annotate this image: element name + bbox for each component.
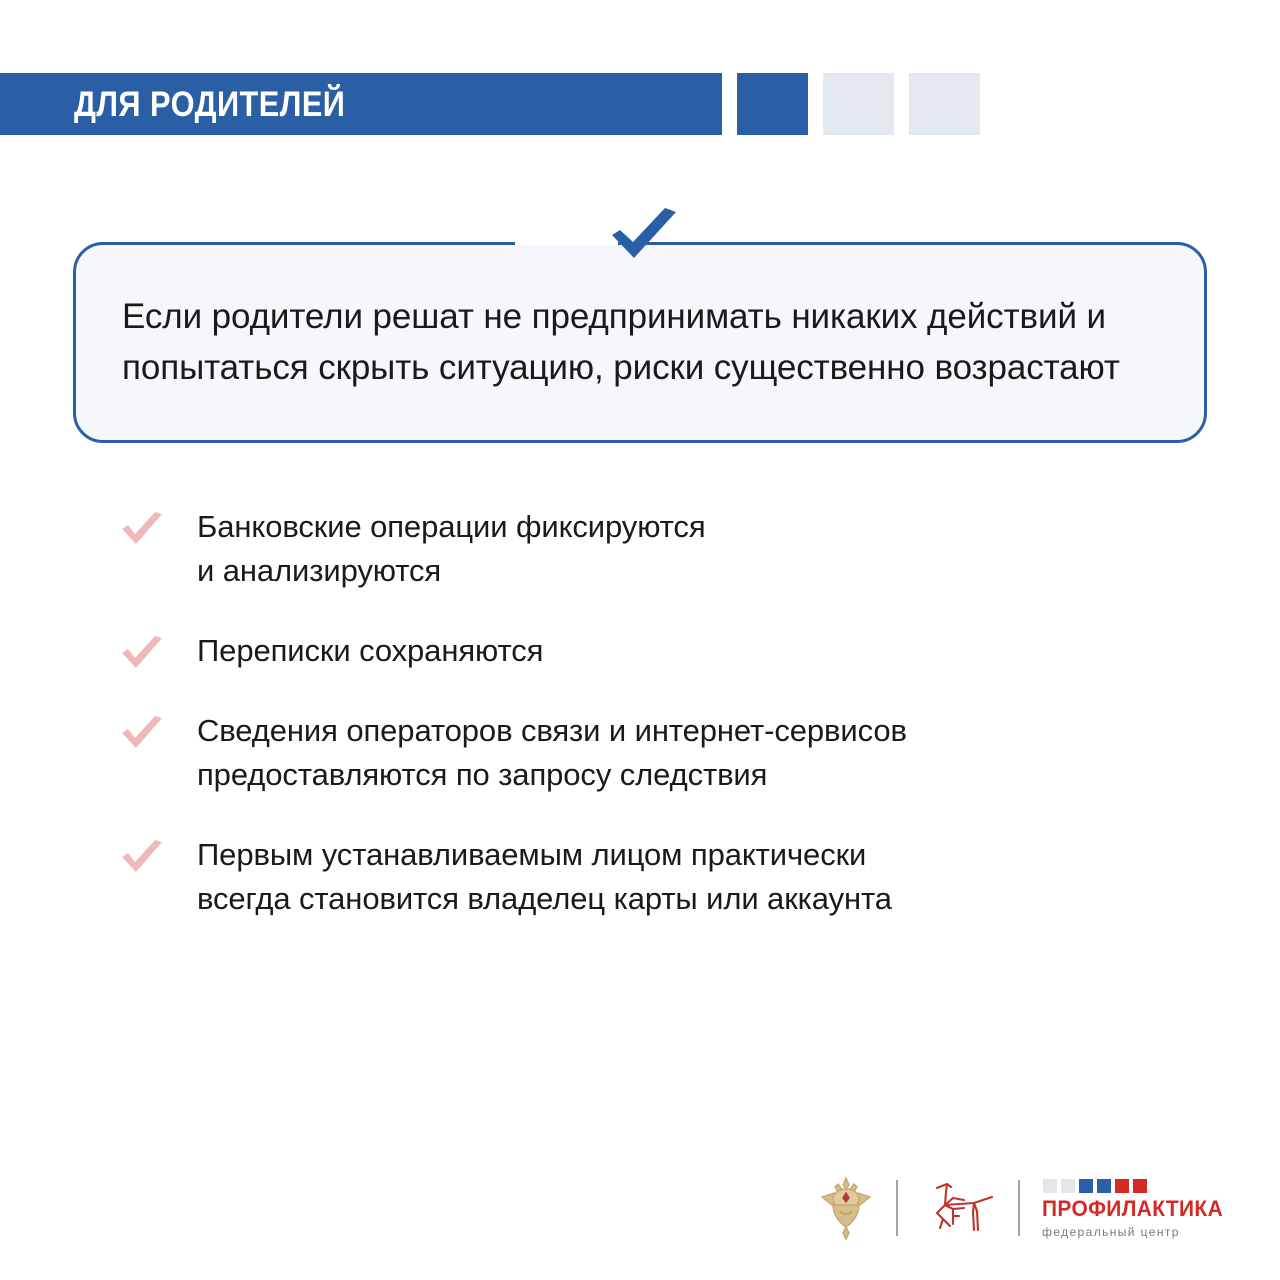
list-item: Переписки сохраняются bbox=[120, 629, 1200, 673]
check-icon bbox=[120, 512, 164, 546]
logo-wordmark: ПРОФИЛАКТИКА bbox=[1042, 1198, 1223, 1220]
list-item-label: Переписки сохраняются bbox=[197, 629, 543, 673]
logo-subtitle: федеральный центр bbox=[1042, 1226, 1180, 1238]
logo-square-1 bbox=[1043, 1179, 1057, 1193]
callout-border-gap bbox=[515, 236, 618, 245]
check-icon bbox=[120, 636, 164, 670]
logo-square-2 bbox=[1061, 1179, 1075, 1193]
callout-text: Если родители решат не предпринимать ник… bbox=[76, 292, 1204, 392]
footer: ПРОФИЛАКТИКА федеральный центр bbox=[818, 1172, 1218, 1244]
logo-square-5 bbox=[1115, 1179, 1129, 1193]
check-icon bbox=[120, 840, 164, 874]
header-block-gray-2 bbox=[909, 73, 980, 135]
header-block-blue bbox=[737, 73, 808, 135]
list-item: Банковские операции фиксируются и анализ… bbox=[120, 505, 1200, 593]
page-title: ДЛЯ РОДИТЕЛЕЙ bbox=[74, 87, 345, 122]
profilaktika-logo: ПРОФИЛАКТИКА федеральный центр bbox=[1042, 1179, 1233, 1238]
header: ДЛЯ РОДИТЕЛЕЙ bbox=[0, 73, 983, 135]
logo-squares bbox=[1043, 1179, 1147, 1193]
logo-square-3 bbox=[1079, 1179, 1093, 1193]
check-icon bbox=[120, 716, 164, 750]
logo-square-6 bbox=[1133, 1179, 1147, 1193]
header-block-gray-1 bbox=[823, 73, 894, 135]
callout-box: Если родители решат не предпринимать ник… bbox=[73, 242, 1207, 443]
footer-divider-2 bbox=[1018, 1180, 1020, 1236]
list-item-label: Первым устанавливаемым лицом практически… bbox=[197, 833, 892, 921]
check-icon bbox=[608, 208, 680, 264]
bullet-list: Банковские операции фиксируются и анализ… bbox=[120, 505, 1200, 921]
deer-figure-icon bbox=[920, 1178, 996, 1238]
header-bar: ДЛЯ РОДИТЕЛЕЙ bbox=[0, 73, 722, 135]
list-item-label: Банковские операции фиксируются и анализ… bbox=[197, 505, 706, 593]
footer-divider-1 bbox=[896, 1180, 898, 1236]
list-item: Первым устанавливаемым лицом практически… bbox=[120, 833, 1200, 921]
list-item-label: Сведения операторов связи и интернет-сер… bbox=[197, 709, 907, 797]
state-emblem-icon bbox=[818, 1175, 874, 1241]
logo-square-4 bbox=[1097, 1179, 1111, 1193]
list-item: Сведения операторов связи и интернет-сер… bbox=[120, 709, 1200, 797]
